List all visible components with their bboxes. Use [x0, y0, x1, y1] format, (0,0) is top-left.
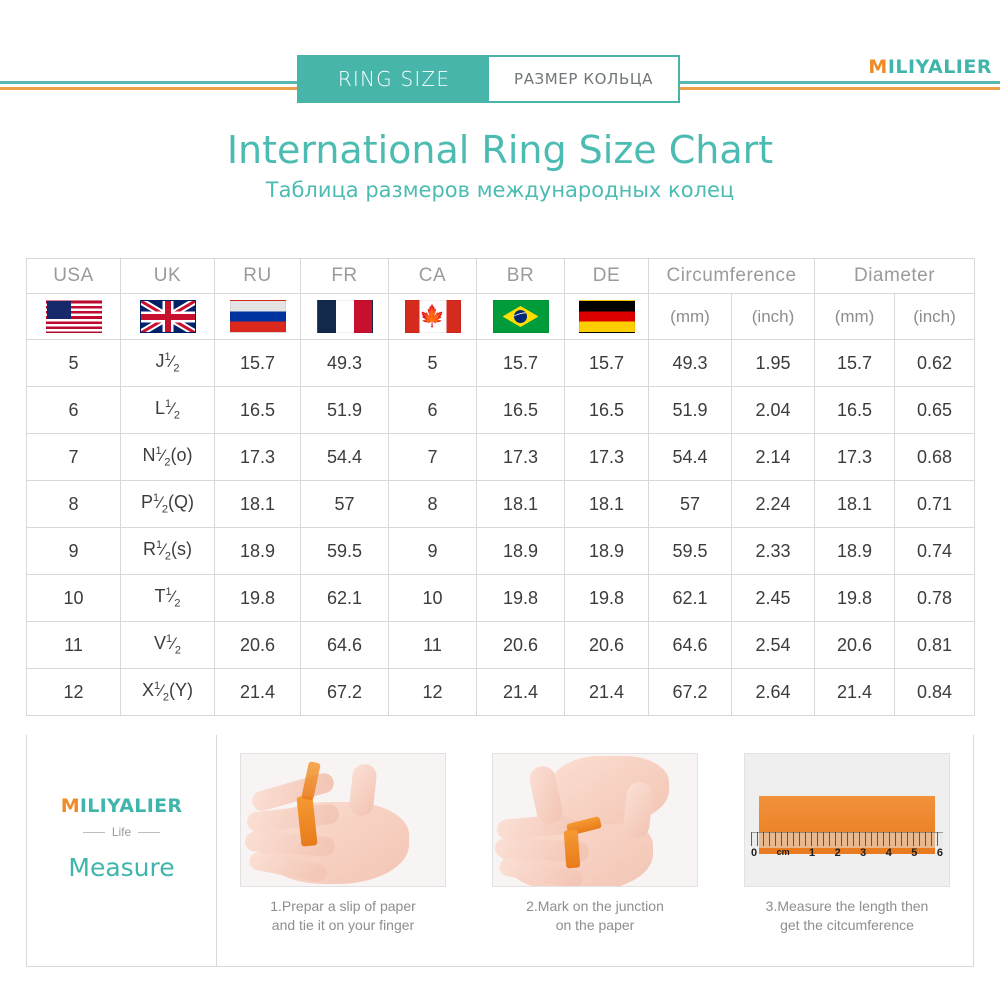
cell-diameter-inch: 0.71 — [895, 481, 975, 528]
ruler-tick-4: 4 — [886, 847, 892, 859]
tagline-text: Life — [112, 825, 131, 839]
cell-de: 19.8 — [565, 575, 649, 622]
brand-logo-initial: M — [868, 56, 887, 78]
table-row: 11V1⁄220.664.61120.620.664.62.5420.60.81 — [27, 622, 975, 669]
cell-ca: 10 — [389, 575, 477, 622]
ruler-unit-label: cm — [777, 847, 790, 859]
cell-usa: 9 — [27, 528, 121, 575]
cell-usa: 11 — [27, 622, 121, 669]
cell-circumference-mm: 57 — [649, 481, 732, 528]
flag-cell-uk — [121, 294, 215, 340]
cell-circumference-inch: 2.24 — [732, 481, 815, 528]
column-header-ru: RU — [215, 259, 301, 294]
uk-size-letter: X — [142, 680, 154, 700]
uk-size-letter: L — [155, 398, 165, 418]
cell-de: 18.9 — [565, 528, 649, 575]
table-row: 7N1⁄2(o)17.354.4717.317.354.42.1417.30.6… — [27, 434, 975, 481]
ring-size-table: USA UK RU FR CA BR DE Circumference Diam… — [26, 258, 975, 716]
ruler-tick-6: 6 — [937, 847, 943, 859]
cell-fr: 57 — [301, 481, 389, 528]
cell-circumference-mm: 59.5 — [649, 528, 732, 575]
cell-uk: N1⁄2(o) — [121, 434, 215, 481]
brand-logo-name: ILIYALIER — [888, 56, 992, 78]
cell-br: 18.9 — [477, 528, 565, 575]
table-row: 8P1⁄2(Q)18.157818.118.1572.2418.10.71 — [27, 481, 975, 528]
flag-uk-icon — [140, 300, 196, 333]
table-body: 5J1⁄215.749.3515.715.749.31.9515.70.626L… — [27, 340, 975, 716]
cell-de: 16.5 — [565, 387, 649, 434]
column-header-circumference: Circumference — [649, 259, 815, 294]
step-caption-3: 3.Measure the length then get the citcum… — [766, 897, 929, 935]
measure-logo-name: ILIYALIER — [80, 795, 182, 817]
table-row: 10T1⁄219.862.11019.819.862.12.4519.80.78 — [27, 575, 975, 622]
column-header-ca: CA — [389, 259, 477, 294]
cell-br: 20.6 — [477, 622, 565, 669]
cell-ca: 5 — [389, 340, 477, 387]
cell-br: 19.8 — [477, 575, 565, 622]
maple-leaf-icon: 🍁 — [419, 306, 445, 327]
flag-cell-ca: 🍁 — [389, 294, 477, 340]
cell-fr: 67.2 — [301, 669, 389, 716]
table-row: 9R1⁄2(s)18.959.5918.918.959.52.3318.90.7… — [27, 528, 975, 575]
ruler-tick-labels: 0cm123456 — [751, 847, 943, 859]
cell-diameter-inch: 0.65 — [895, 387, 975, 434]
page-subtitle: Таблица размеров международных колец — [0, 178, 1000, 202]
cell-ca: 8 — [389, 481, 477, 528]
measure-instructions-panel: MILIYALIER Life Measure — [26, 735, 974, 967]
measure-heading: Measure — [68, 853, 174, 882]
cell-de: 17.3 — [565, 434, 649, 481]
cell-circumference-mm: 54.4 — [649, 434, 732, 481]
step-caption-1: 1.Prepar a slip of paper and tie it on y… — [270, 897, 416, 935]
brand-logo: MILIYALIER — [868, 58, 992, 77]
flag-russia-icon — [230, 300, 286, 333]
flag-germany-icon — [579, 300, 635, 333]
measure-brand-cell: MILIYALIER Life Measure — [27, 735, 217, 966]
cell-diameter-inch: 0.68 — [895, 434, 975, 481]
cell-usa: 6 — [27, 387, 121, 434]
uk-size-suffix: (Q) — [168, 492, 194, 512]
cell-diameter-mm: 16.5 — [815, 387, 895, 434]
column-header-uk: UK — [121, 259, 215, 294]
uk-size-letter: J — [156, 351, 165, 371]
cell-ru: 16.5 — [215, 387, 301, 434]
cell-diameter-inch: 0.84 — [895, 669, 975, 716]
cell-diameter-inch: 0.74 — [895, 528, 975, 575]
cell-usa: 10 — [27, 575, 121, 622]
top-banner: RING SIZE РАЗМЕР КОЛЬЦА — [0, 55, 1000, 105]
uk-size-fraction: 1⁄2 — [166, 633, 181, 657]
cell-circumference-mm: 67.2 — [649, 669, 732, 716]
cell-fr: 54.4 — [301, 434, 389, 481]
banner-title-en: RING SIZE — [338, 67, 450, 91]
cell-uk: R1⁄2(s) — [121, 528, 215, 575]
cell-ru: 15.7 — [215, 340, 301, 387]
step-caption-3-line2: get the citcumference — [766, 916, 929, 935]
uk-size-fraction: 1⁄2 — [156, 539, 171, 563]
column-header-de: DE — [565, 259, 649, 294]
table-row: 5J1⁄215.749.3515.715.749.31.9515.70.62 — [27, 340, 975, 387]
unit-header-diameter-mm: (mm) — [815, 294, 895, 340]
cell-uk: X1⁄2(Y) — [121, 669, 215, 716]
cell-uk: J1⁄2 — [121, 340, 215, 387]
cell-usa: 7 — [27, 434, 121, 481]
cell-circumference-inch: 2.04 — [732, 387, 815, 434]
tagline-dash-left — [83, 832, 105, 833]
ring-size-chart-page: RING SIZE РАЗМЕР КОЛЬЦА MILIYALIER Inter… — [0, 0, 1000, 1000]
cell-diameter-mm: 19.8 — [815, 575, 895, 622]
cell-fr: 62.1 — [301, 575, 389, 622]
column-header-diameter: Diameter — [815, 259, 975, 294]
cell-ru: 21.4 — [215, 669, 301, 716]
table-header-flags-row: 🍁 (mm) (inch) (mm) (inch) — [27, 294, 975, 340]
cell-ru: 20.6 — [215, 622, 301, 669]
cell-br: 21.4 — [477, 669, 565, 716]
cell-circumference-inch: 1.95 — [732, 340, 815, 387]
cell-circumference-mm: 51.9 — [649, 387, 732, 434]
uk-size-suffix: (Y) — [169, 680, 193, 700]
cell-circumference-mm: 64.6 — [649, 622, 732, 669]
banner-ring-size-tab-ru: РАЗМЕР КОЛЬЦА — [489, 55, 680, 103]
cell-usa: 5 — [27, 340, 121, 387]
table-row: 6L1⁄216.551.9616.516.551.92.0416.50.65 — [27, 387, 975, 434]
uk-size-letter: P — [141, 492, 153, 512]
cell-diameter-mm: 20.6 — [815, 622, 895, 669]
hand-with-paper-strip-photo — [240, 753, 446, 887]
cell-diameter-mm: 15.7 — [815, 340, 895, 387]
cell-circumference-mm: 49.3 — [649, 340, 732, 387]
table-header-names-row: USA UK RU FR CA BR DE Circumference Diam… — [27, 259, 975, 294]
uk-size-fraction: 1⁄2 — [166, 586, 181, 610]
step-caption-1-line2: and tie it on your finger — [270, 916, 416, 935]
uk-size-letter: N — [143, 445, 156, 465]
cell-fr: 59.5 — [301, 528, 389, 575]
cell-circumference-inch: 2.14 — [732, 434, 815, 481]
cell-circumference-inch: 2.54 — [732, 622, 815, 669]
step-cell-2: 2.Mark on the junction on the paper — [469, 735, 721, 966]
uk-size-suffix: (s) — [171, 539, 192, 559]
flag-cell-ru — [215, 294, 301, 340]
uk-size-suffix: (o) — [170, 445, 192, 465]
cell-circumference-inch: 2.64 — [732, 669, 815, 716]
cell-uk: L1⁄2 — [121, 387, 215, 434]
cell-usa: 12 — [27, 669, 121, 716]
step-caption-2-line2: on the paper — [526, 916, 664, 935]
step-caption-2: 2.Mark on the junction on the paper — [526, 897, 664, 935]
cell-circumference-inch: 2.33 — [732, 528, 815, 575]
cell-de: 21.4 — [565, 669, 649, 716]
cell-ru: 17.3 — [215, 434, 301, 481]
table-row: 12X1⁄2(Y)21.467.21221.421.467.22.6421.40… — [27, 669, 975, 716]
ruler-tick-2: 2 — [835, 847, 841, 859]
table-header: USA UK RU FR CA BR DE Circumference Diam… — [27, 259, 975, 340]
measure-logo-initial: M — [61, 795, 80, 817]
tagline-dash-right — [138, 832, 160, 833]
cell-circumference-inch: 2.45 — [732, 575, 815, 622]
cell-ca: 12 — [389, 669, 477, 716]
cell-uk: T1⁄2 — [121, 575, 215, 622]
flag-cell-fr — [301, 294, 389, 340]
cell-diameter-inch: 0.62 — [895, 340, 975, 387]
cell-ca: 7 — [389, 434, 477, 481]
cell-uk: P1⁄2(Q) — [121, 481, 215, 528]
column-header-usa: USA — [27, 259, 121, 294]
uk-size-letter: V — [154, 633, 166, 653]
cell-diameter-inch: 0.78 — [895, 575, 975, 622]
measure-brand-logo: MILIYALIER — [61, 797, 183, 816]
column-header-br: BR — [477, 259, 565, 294]
cell-de: 18.1 — [565, 481, 649, 528]
cell-usa: 8 — [27, 481, 121, 528]
marking-paper-on-finger-photo — [492, 753, 698, 887]
step-caption-1-line1: 1.Prepar a slip of paper — [270, 897, 416, 916]
uk-size-letter: R — [143, 539, 156, 559]
unit-header-circumference-mm: (mm) — [649, 294, 732, 340]
ruler-measuring-strip-photo: 0cm123456 — [744, 753, 950, 887]
cell-br: 15.7 — [477, 340, 565, 387]
banner-title-ru: РАЗМЕР КОЛЬЦА — [514, 70, 653, 88]
uk-size-letter: T — [155, 586, 166, 606]
cell-de: 20.6 — [565, 622, 649, 669]
flag-cell-de — [565, 294, 649, 340]
cell-ru: 18.1 — [215, 481, 301, 528]
flag-france-icon — [317, 300, 373, 333]
cell-circumference-mm: 62.1 — [649, 575, 732, 622]
flag-cell-usa — [27, 294, 121, 340]
cell-ca: 9 — [389, 528, 477, 575]
flag-cell-br — [477, 294, 565, 340]
ruler-tick-1: 1 — [809, 847, 815, 859]
cell-ca: 11 — [389, 622, 477, 669]
cell-diameter-mm: 17.3 — [815, 434, 895, 481]
ruler-tick-5: 5 — [911, 847, 917, 859]
cell-uk: V1⁄2 — [121, 622, 215, 669]
uk-size-fraction: 1⁄2 — [154, 680, 169, 704]
cell-diameter-mm: 21.4 — [815, 669, 895, 716]
cell-fr: 49.3 — [301, 340, 389, 387]
measure-brand-tagline: Life — [83, 825, 160, 839]
cell-br: 18.1 — [477, 481, 565, 528]
page-title: International Ring Size Chart — [0, 128, 1000, 172]
step-cell-3: 0cm123456 3.Measure the length then get … — [721, 735, 973, 966]
flag-usa-icon — [46, 300, 102, 333]
flag-canada-icon: 🍁 — [405, 300, 461, 333]
uk-size-fraction: 1⁄2 — [165, 351, 180, 375]
cell-ca: 6 — [389, 387, 477, 434]
ruler-tick-0: 0 — [751, 847, 757, 859]
step-caption-3-line1: 3.Measure the length then — [766, 897, 929, 916]
cell-de: 15.7 — [565, 340, 649, 387]
cell-diameter-mm: 18.1 — [815, 481, 895, 528]
step-cell-1: 1.Prepar a slip of paper and tie it on y… — [217, 735, 469, 966]
step-caption-2-line1: 2.Mark on the junction — [526, 897, 664, 916]
uk-size-fraction: 1⁄2 — [165, 398, 180, 422]
cell-ru: 19.8 — [215, 575, 301, 622]
cell-ru: 18.9 — [215, 528, 301, 575]
cell-br: 17.3 — [477, 434, 565, 481]
flag-brazil-icon — [493, 300, 549, 333]
ruler-tick-3: 3 — [860, 847, 866, 859]
uk-size-fraction: 1⁄2 — [153, 492, 168, 516]
column-header-fr: FR — [301, 259, 389, 294]
cell-fr: 51.9 — [301, 387, 389, 434]
cell-fr: 64.6 — [301, 622, 389, 669]
unit-header-circumference-inch: (inch) — [732, 294, 815, 340]
cell-br: 16.5 — [477, 387, 565, 434]
cell-diameter-inch: 0.81 — [895, 622, 975, 669]
uk-size-fraction: 1⁄2 — [156, 445, 171, 469]
cell-diameter-mm: 18.9 — [815, 528, 895, 575]
unit-header-diameter-inch: (inch) — [895, 294, 975, 340]
